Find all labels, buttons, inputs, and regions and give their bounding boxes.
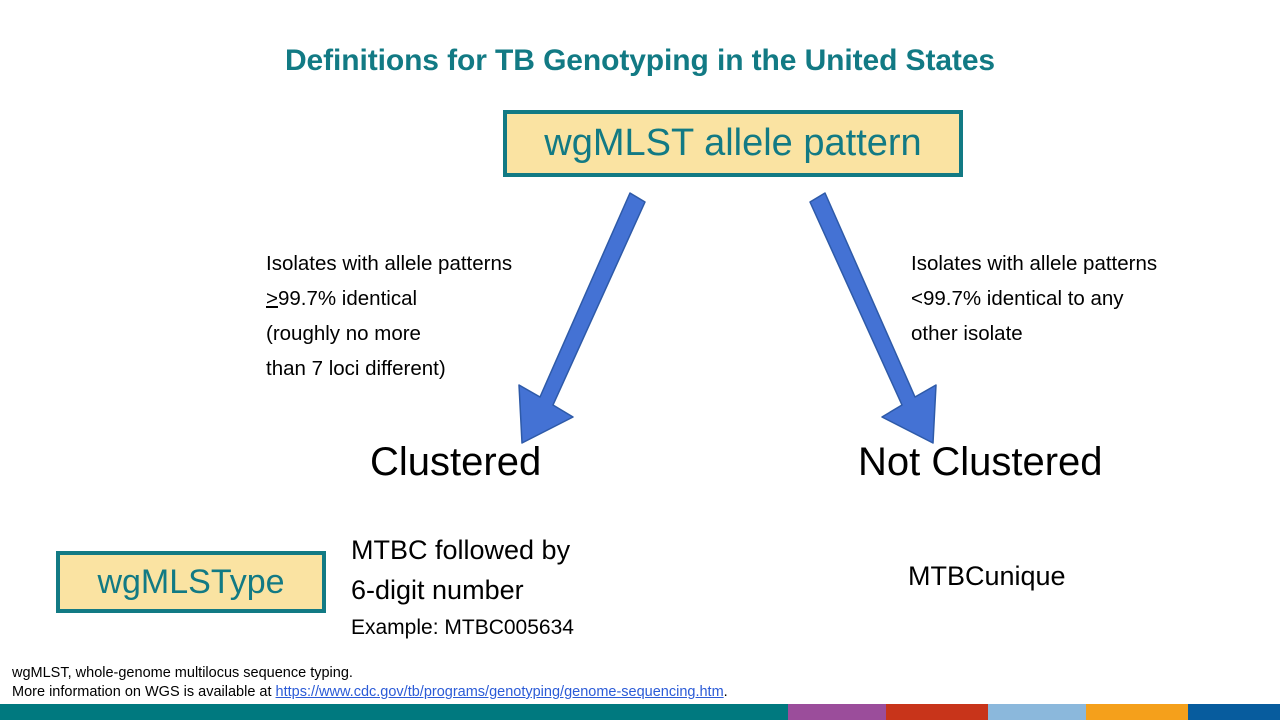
bottom-bar-segment-light-blue	[988, 704, 1086, 720]
not-clustered-naming-rule: MTBCunique	[908, 561, 1066, 592]
wgmlst-allele-pattern-box: wgMLST allele pattern	[503, 110, 963, 177]
bottom-bar-segment-orange	[1086, 704, 1188, 720]
bottom-bar-segment-purple	[788, 704, 886, 720]
wgmlstype-box: wgMLSType	[56, 551, 326, 613]
left-criteria-line-4: than 7 loci different)	[266, 351, 596, 386]
wgmlstype-label: wgMLSType	[97, 563, 284, 602]
footnote-line-2: More information on WGS is available at …	[12, 683, 728, 702]
left-criteria-line-1: Isolates with allele patterns	[266, 246, 596, 281]
bottom-color-bar	[0, 704, 1280, 720]
clustered-naming-example: Example: MTBC005634	[351, 616, 574, 640]
footnote-line-2-prefix: More information on WGS is available at	[12, 684, 276, 700]
right-branch-criteria: Isolates with allele patterns <99.7% ide…	[911, 246, 1241, 351]
clustered-naming-rule: MTBC followed by 6-digit number	[351, 530, 651, 610]
outcome-clustered-label: Clustered	[370, 440, 541, 485]
greater-than-or-equal-symbol: >	[266, 287, 278, 310]
left-criteria-line-3: (roughly no more	[266, 316, 596, 351]
page-title: Definitions for TB Genotyping in the Uni…	[0, 44, 1280, 78]
footnote-line-1: wgMLST, whole-genome multilocus sequence…	[12, 664, 728, 683]
bottom-bar-segment-dark-blue	[1188, 704, 1280, 720]
left-criteria-line-2: >99.7% identical	[266, 281, 596, 316]
left-branch-criteria: Isolates with allele patterns>99.7% iden…	[266, 246, 596, 386]
outcome-not-clustered-label: Not Clustered	[858, 440, 1103, 485]
footnote-line-2-suffix: .	[724, 684, 728, 700]
left-criteria-line-2-text: 99.7% identical	[278, 287, 417, 310]
cdc-genome-sequencing-link[interactable]: https://www.cdc.gov/tb/programs/genotypi…	[276, 684, 724, 700]
footnote: wgMLST, whole-genome multilocus sequence…	[12, 664, 728, 702]
bottom-bar-segment-teal	[0, 704, 788, 720]
bottom-bar-segment-red	[886, 704, 988, 720]
wgmlst-allele-pattern-label: wgMLST allele pattern	[544, 122, 921, 165]
